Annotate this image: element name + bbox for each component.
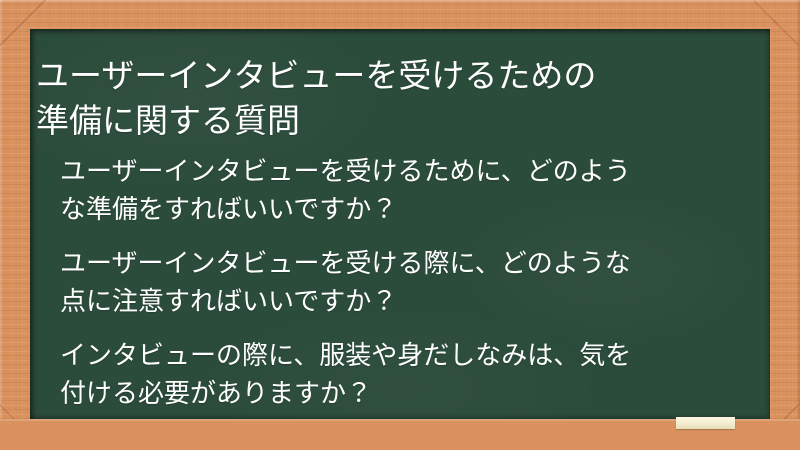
chalkboard-slide: ユーザーインタビューを受けるための 準備に関する質問 ユーザーインタビューを受け… [0, 0, 800, 450]
board-content: ユーザーインタビューを受けるための 準備に関する質問 ユーザーインタビューを受け… [30, 29, 770, 419]
question-item-2: ユーザーインタビューを受ける際に、どのような 点に注意すればいいですか？ [60, 245, 760, 321]
question-list: ユーザーインタビューを受けるために、どのよう な準備をすればいいですか？ ユーザ… [60, 153, 760, 413]
chalkboard-surface: ユーザーインタビューを受けるための 準備に関する質問 ユーザーインタビューを受け… [30, 29, 770, 419]
question-item-3: インタビューの際に、服装や身だしなみは、気を 付ける必要がありますか？ [60, 337, 760, 413]
question-item-1: ユーザーインタビューを受けるために、どのよう な準備をすればいいですか？ [60, 153, 760, 229]
chalk-eraser-icon [676, 417, 735, 429]
slide-title: ユーザーインタビューを受けるための 準備に関する質問 [36, 53, 762, 143]
